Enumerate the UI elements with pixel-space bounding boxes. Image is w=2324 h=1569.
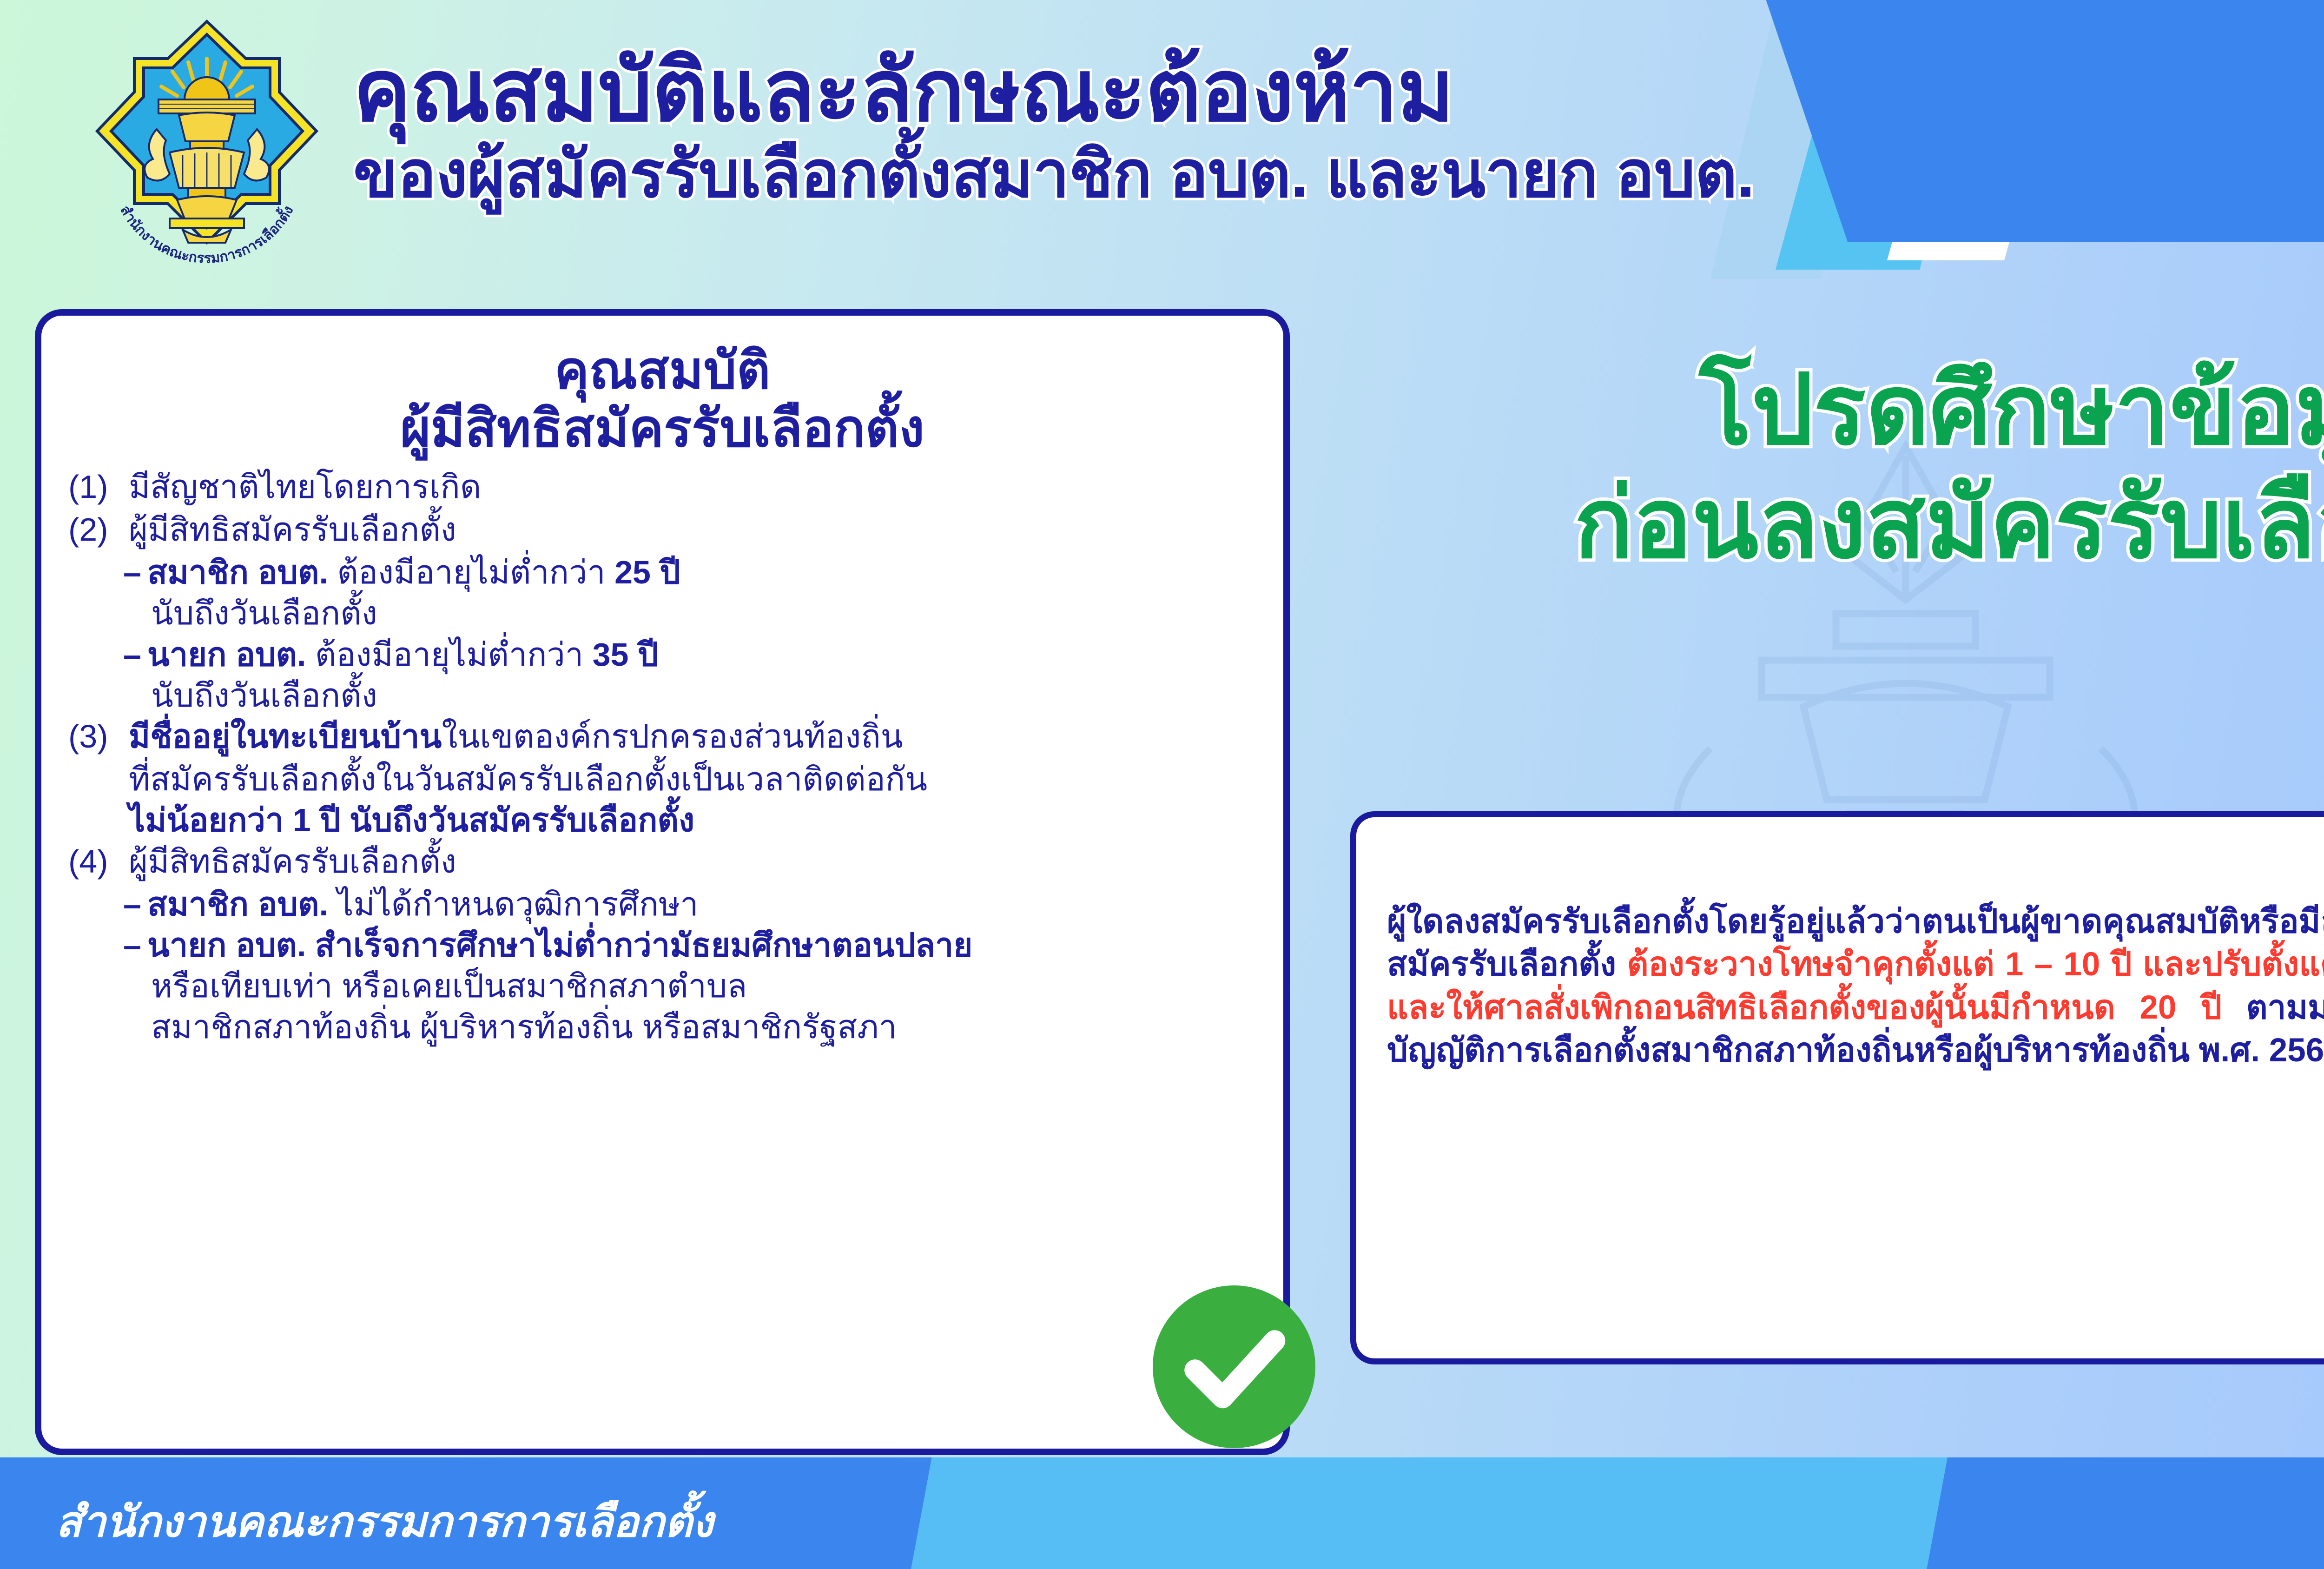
ect-emblem-logo: สำนักงานคณะกรรมการการเลือกตั้ง [86, 10, 328, 298]
item-text: มีสัญชาติไทยโดยการเกิด [129, 466, 1263, 507]
sub-item: – นายก อบต. ต้องมีอายุไม่ต่ำกว่า 35 ปี [123, 634, 1263, 675]
item-text: ผู้มีสิทธิสมัครรับเลือกตั้ง [129, 841, 1263, 882]
title-line-2: ของผู้สมัครรับเลือกตั้งสมาชิก อบต. และนา… [353, 140, 2166, 208]
sub-item-role: สมาชิก อบต. [147, 886, 328, 922]
dash-marker: – [123, 884, 147, 925]
poster-canvas: สำนักงานคณะกรรมการการเลือกตั้ง คุณสมบัติ… [0, 0, 2324, 1569]
sub-item-role: นายก อบต. สำเร็จการศึกษาไม่ต่ำกว่ามัธยมศ… [147, 925, 1263, 966]
item-number: (1) [68, 466, 129, 507]
list-item: (2) ผู้มีสิทธิสมัครรับเลือกตั้ง [68, 509, 1263, 550]
qualifications-list: (1) มีสัญชาติไทยโดยการเกิด (2) ผู้มีสิทธ… [41, 466, 1283, 1048]
sub-item-role: สมาชิก อบต. [147, 554, 328, 590]
penalty-warning-card: ผู้ใดลงสมัครรับเลือกตั้งโดยรู้อยู่แล้วว่… [1350, 811, 2324, 1364]
right-headline-line1: โปรดศึกษาข้อมูล [1362, 353, 2324, 467]
sub-item-continuation: หรือเทียบเท่า หรือเคยเป็นสมาชิกสภาตำบล [151, 966, 1263, 1006]
penalty-warning-text: ผู้ใดลงสมัครรับเลือกตั้งโดยรู้อยู่แล้วว่… [1387, 900, 2324, 1072]
check-circle-icon [1153, 1285, 1315, 1448]
qualifications-heading-line1: คุณสมบัติ [41, 341, 1283, 399]
page-title: คุณสมบัติและลักษณะต้องห้าม ของผู้สมัครรั… [353, 46, 2166, 208]
footer-accent-panel [911, 1457, 1948, 1569]
title-line-1: คุณสมบัติและลักษณะต้องห้าม [353, 46, 2166, 136]
sub-item: – นายก อบต. สำเร็จการศึกษาไม่ต่ำกว่ามัธย… [123, 925, 1263, 966]
sub-item-text: ต้องมีอายุไม่ต่ำกว่า [328, 554, 614, 590]
item-line-2: ที่สมัครรับเลือกตั้งในวันสมัครรับเลือกตั… [129, 759, 1263, 800]
sub-item-continuation-2: สมาชิกสภาท้องถิ่น ผู้บริหารท้องถิ่น หรือ… [151, 1006, 1263, 1047]
item-number: (3) [68, 716, 129, 757]
dash-marker: – [123, 634, 147, 675]
sub-item-text: ต้องมีอายุไม่ต่ำกว่า [306, 636, 592, 673]
sub-item-role: นายก อบต. [147, 636, 306, 673]
list-item: (1) มีสัญชาติไทยโดยการเกิด [68, 466, 1263, 507]
footer-organization: สำนักงานคณะกรรมการการเลือกตั้ง [56, 1487, 713, 1556]
sub-item: – สมาชิก อบต. ไม่ได้กำหนดวุฒิการศึกษา [123, 884, 1263, 925]
dash-marker: – [123, 552, 147, 593]
item-text-bold: มีชื่ออยู่ในทะเบียนบ้าน [129, 718, 442, 755]
item-number: (2) [68, 509, 129, 550]
item-text: ในเขตองค์กรปกครองส่วนท้องถิ่น [442, 718, 903, 755]
sub-item-continuation: นับถึงวันเลือกตั้ง [151, 675, 1263, 716]
list-item: (3) มีชื่ออยู่ในทะเบียนบ้านในเขตองค์กรปก… [68, 716, 1263, 757]
qualifications-heading-line2: ผู้มีสิทธิสมัครรับเลือกตั้ง [41, 399, 1283, 457]
sub-item-age: 25 ปี [614, 554, 680, 590]
check-mark-glyph [1153, 1285, 1315, 1448]
sub-item: – สมาชิก อบต. ต้องมีอายุไม่ต่ำกว่า 25 ปี [123, 552, 1263, 593]
sub-item-text: ไม่ได้กำหนดวุฒิการศึกษา [328, 886, 699, 922]
item-line-3: ไม่น้อยกว่า 1 ปี นับถึงวันสมัครรับเลือกต… [129, 800, 1263, 841]
right-headline: โปรดศึกษาข้อมูล ก่อนลงสมัครรับเลือกตั้ง [1362, 353, 2324, 580]
sub-item-age: 35 ปี [593, 636, 659, 673]
qualifications-card: คุณสมบัติ ผู้มีสิทธิสมัครรับเลือกตั้ง (1… [35, 309, 1290, 1455]
list-item: (4) ผู้มีสิทธิสมัครรับเลือกตั้ง [68, 841, 1263, 882]
item-text: ผู้มีสิทธิสมัครรับเลือกตั้ง [129, 509, 1263, 550]
right-headline-line2: ก่อนลงสมัครรับเลือกตั้ง [1362, 467, 2324, 580]
footer-bar: สำนักงานคณะกรรมการการเลือกตั้ง หน้า 1/2 [0, 1457, 2324, 1569]
dash-marker: – [123, 925, 147, 966]
item-number: (4) [68, 841, 129, 882]
sub-item-continuation: นับถึงวันเลือกตั้ง [151, 593, 1263, 634]
qualifications-heading: คุณสมบัติ ผู้มีสิทธิสมัครรับเลือกตั้ง [41, 341, 1283, 458]
